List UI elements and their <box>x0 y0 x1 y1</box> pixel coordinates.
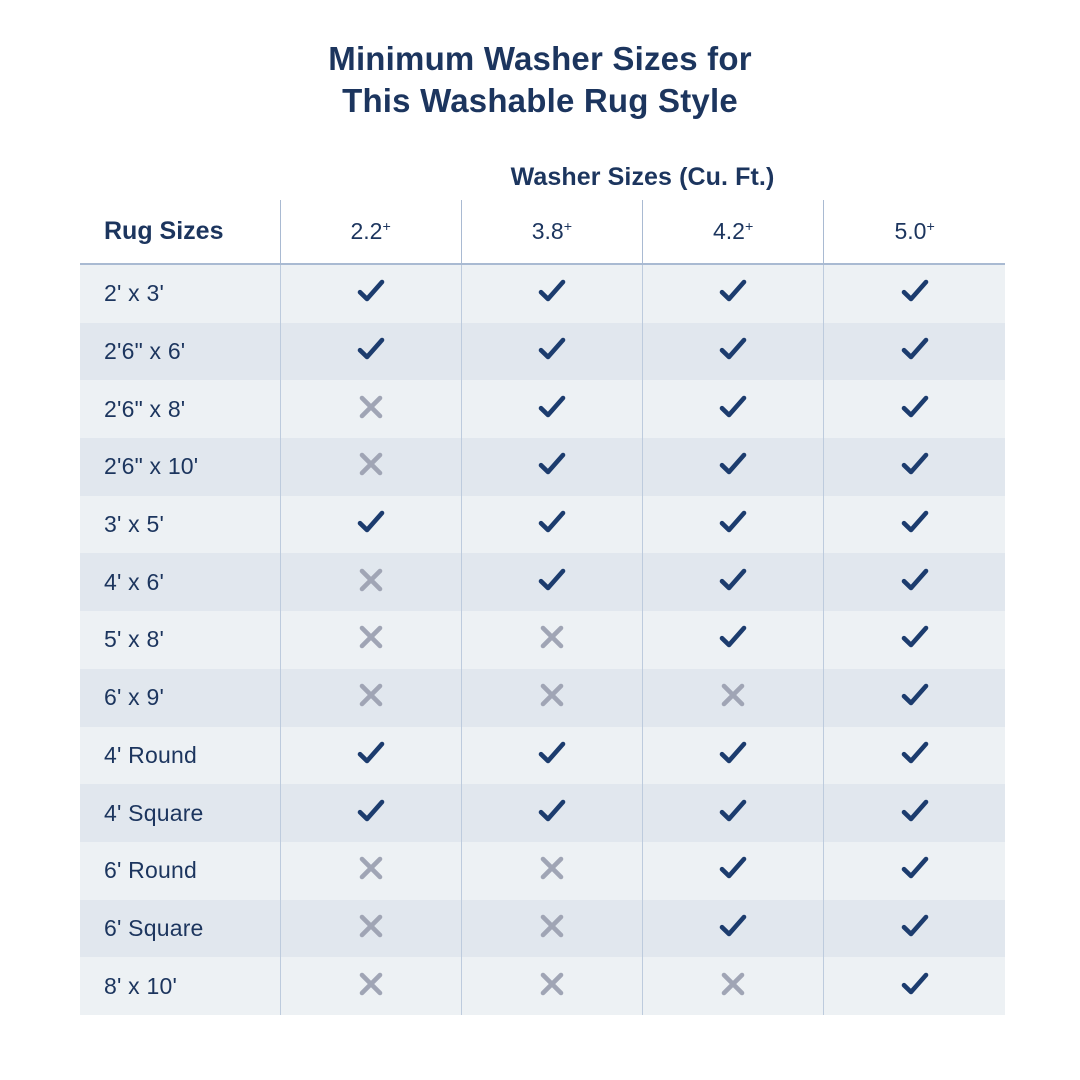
check-icon <box>716 390 750 424</box>
compat-cell <box>280 380 461 438</box>
compat-cell <box>461 611 642 669</box>
washer-size-table-wrapper: Rug Sizes 2.2+ 3.8+ 4.2+ 5.0+ 2' x 3'2'6… <box>80 200 1005 1015</box>
rug-size-label: 6' x 9' <box>80 669 280 727</box>
table-row: 2' x 3' <box>80 264 1005 323</box>
rug-size-label: 6' Round <box>80 842 280 900</box>
check-icon <box>716 909 750 943</box>
check-icon <box>535 332 569 366</box>
cross-icon <box>354 967 388 1001</box>
cross-icon <box>354 909 388 943</box>
check-icon <box>716 274 750 308</box>
column-header-2-2: 2.2+ <box>280 200 461 264</box>
compat-cell <box>461 669 642 727</box>
cross-icon <box>535 909 569 943</box>
compat-cell <box>461 380 642 438</box>
compat-cell <box>824 957 1005 1015</box>
compat-cell <box>824 784 1005 842</box>
table-header: Rug Sizes 2.2+ 3.8+ 4.2+ 5.0+ <box>80 200 1005 264</box>
check-icon <box>898 620 932 654</box>
compat-cell <box>824 842 1005 900</box>
compat-cell <box>824 553 1005 611</box>
table-row: 3' x 5' <box>80 496 1005 554</box>
compat-cell <box>461 900 642 958</box>
table-row: 6' Round <box>80 842 1005 900</box>
check-icon <box>898 447 932 481</box>
check-icon <box>354 332 388 366</box>
check-icon <box>898 678 932 712</box>
cross-icon <box>535 851 569 885</box>
check-icon <box>354 505 388 539</box>
compat-cell <box>280 669 461 727</box>
compat-cell <box>643 438 824 496</box>
compat-cell <box>461 957 642 1015</box>
check-icon <box>898 967 932 1001</box>
check-icon <box>716 851 750 885</box>
compat-cell <box>643 669 824 727</box>
column-header-3-8-value: 3.8 <box>532 218 564 244</box>
check-icon <box>898 390 932 424</box>
compat-cell <box>643 842 824 900</box>
check-icon <box>354 274 388 308</box>
table-row: 2'6" x 8' <box>80 380 1005 438</box>
compat-cell <box>824 323 1005 381</box>
check-icon <box>898 794 932 828</box>
rug-size-label: 4' Square <box>80 784 280 842</box>
compat-cell <box>643 323 824 381</box>
table-row: 4' Square <box>80 784 1005 842</box>
check-icon <box>535 736 569 770</box>
cross-icon <box>535 678 569 712</box>
column-header-2-2-value: 2.2 <box>350 218 382 244</box>
cross-icon <box>354 678 388 712</box>
compat-cell <box>824 727 1005 785</box>
compat-cell <box>824 669 1005 727</box>
rug-size-label: 2'6" x 6' <box>80 323 280 381</box>
column-header-4-2-suffix: + <box>745 219 753 235</box>
compat-cell <box>643 264 824 323</box>
table-row: 6' Square <box>80 900 1005 958</box>
compat-cell <box>643 496 824 554</box>
check-icon <box>898 909 932 943</box>
rug-size-label: 2'6" x 8' <box>80 380 280 438</box>
check-icon <box>535 447 569 481</box>
cross-icon <box>535 967 569 1001</box>
check-icon <box>716 620 750 654</box>
page-title: Minimum Washer Sizes for This Washable R… <box>0 38 1080 122</box>
compat-cell <box>280 323 461 381</box>
compat-cell <box>643 553 824 611</box>
washer-sizes-group-header: Washer Sizes (Cu. Ft.) <box>280 163 1005 192</box>
compat-cell <box>280 784 461 842</box>
compat-cell <box>280 957 461 1015</box>
compat-cell <box>461 553 642 611</box>
page-title-line-1: Minimum Washer Sizes for <box>0 38 1080 80</box>
compat-cell <box>461 727 642 785</box>
table-row: 8' x 10' <box>80 957 1005 1015</box>
column-header-3-8-suffix: + <box>564 219 572 235</box>
compat-cell <box>280 900 461 958</box>
cross-icon <box>354 620 388 654</box>
check-icon <box>535 563 569 597</box>
table-row: 2'6" x 6' <box>80 323 1005 381</box>
compat-cell <box>643 784 824 842</box>
rug-size-label: 2'6" x 10' <box>80 438 280 496</box>
check-icon <box>898 274 932 308</box>
rug-size-label: 4' x 6' <box>80 553 280 611</box>
check-icon <box>898 505 932 539</box>
compat-cell <box>280 842 461 900</box>
compat-cell <box>461 323 642 381</box>
cross-icon <box>716 967 750 1001</box>
rug-size-label: 8' x 10' <box>80 957 280 1015</box>
rug-size-label: 3' x 5' <box>80 496 280 554</box>
cross-icon <box>535 620 569 654</box>
table-row: 6' x 9' <box>80 669 1005 727</box>
check-icon <box>716 794 750 828</box>
compat-cell <box>280 264 461 323</box>
column-header-5-0: 5.0+ <box>824 200 1005 264</box>
check-icon <box>716 505 750 539</box>
column-header-5-0-suffix: + <box>926 219 934 235</box>
check-icon <box>535 274 569 308</box>
page-title-line-2: This Washable Rug Style <box>0 80 1080 122</box>
check-icon <box>898 736 932 770</box>
check-icon <box>898 563 932 597</box>
cross-icon <box>354 851 388 885</box>
compat-cell <box>280 727 461 785</box>
compat-cell <box>461 784 642 842</box>
check-icon <box>535 794 569 828</box>
table-row: 4' Round <box>80 727 1005 785</box>
table-header-row: Rug Sizes 2.2+ 3.8+ 4.2+ 5.0+ <box>80 200 1005 264</box>
compat-cell <box>643 900 824 958</box>
rug-size-label: 5' x 8' <box>80 611 280 669</box>
check-icon <box>716 736 750 770</box>
washer-size-table: Rug Sizes 2.2+ 3.8+ 4.2+ 5.0+ 2' x 3'2'6… <box>80 200 1005 1015</box>
column-header-2-2-suffix: + <box>382 219 390 235</box>
check-icon <box>354 794 388 828</box>
compat-cell <box>824 611 1005 669</box>
rug-size-label: 2' x 3' <box>80 264 280 323</box>
rug-size-label: 6' Square <box>80 900 280 958</box>
compat-cell <box>280 553 461 611</box>
rug-size-label: 4' Round <box>80 727 280 785</box>
check-icon <box>535 390 569 424</box>
column-header-4-2: 4.2+ <box>643 200 824 264</box>
compat-cell <box>643 727 824 785</box>
compat-cell <box>461 264 642 323</box>
washer-size-chart-page: Minimum Washer Sizes for This Washable R… <box>0 0 1080 1080</box>
check-icon <box>898 851 932 885</box>
compat-cell <box>824 438 1005 496</box>
compat-cell <box>824 900 1005 958</box>
cross-icon <box>354 447 388 481</box>
compat-cell <box>280 438 461 496</box>
compat-cell <box>280 611 461 669</box>
compat-cell <box>824 380 1005 438</box>
compat-cell <box>824 264 1005 323</box>
cross-icon <box>716 678 750 712</box>
table-row: 4' x 6' <box>80 553 1005 611</box>
column-header-3-8: 3.8+ <box>461 200 642 264</box>
compat-cell <box>643 957 824 1015</box>
compat-cell <box>643 380 824 438</box>
cross-icon <box>354 390 388 424</box>
check-icon <box>354 736 388 770</box>
check-icon <box>898 332 932 366</box>
cross-icon <box>354 563 388 597</box>
compat-cell <box>643 611 824 669</box>
compat-cell <box>824 496 1005 554</box>
table-body: 2' x 3'2'6" x 6'2'6" x 8'2'6" x 10'3' x … <box>80 264 1005 1015</box>
compat-cell <box>461 842 642 900</box>
compat-cell <box>280 496 461 554</box>
check-icon <box>716 447 750 481</box>
check-icon <box>716 563 750 597</box>
column-header-5-0-value: 5.0 <box>894 218 926 244</box>
table-row: 5' x 8' <box>80 611 1005 669</box>
table-row: 2'6" x 10' <box>80 438 1005 496</box>
check-icon <box>716 332 750 366</box>
check-icon <box>535 505 569 539</box>
column-header-4-2-value: 4.2 <box>713 218 745 244</box>
compat-cell <box>461 496 642 554</box>
column-header-rug-sizes: Rug Sizes <box>80 200 280 264</box>
compat-cell <box>461 438 642 496</box>
